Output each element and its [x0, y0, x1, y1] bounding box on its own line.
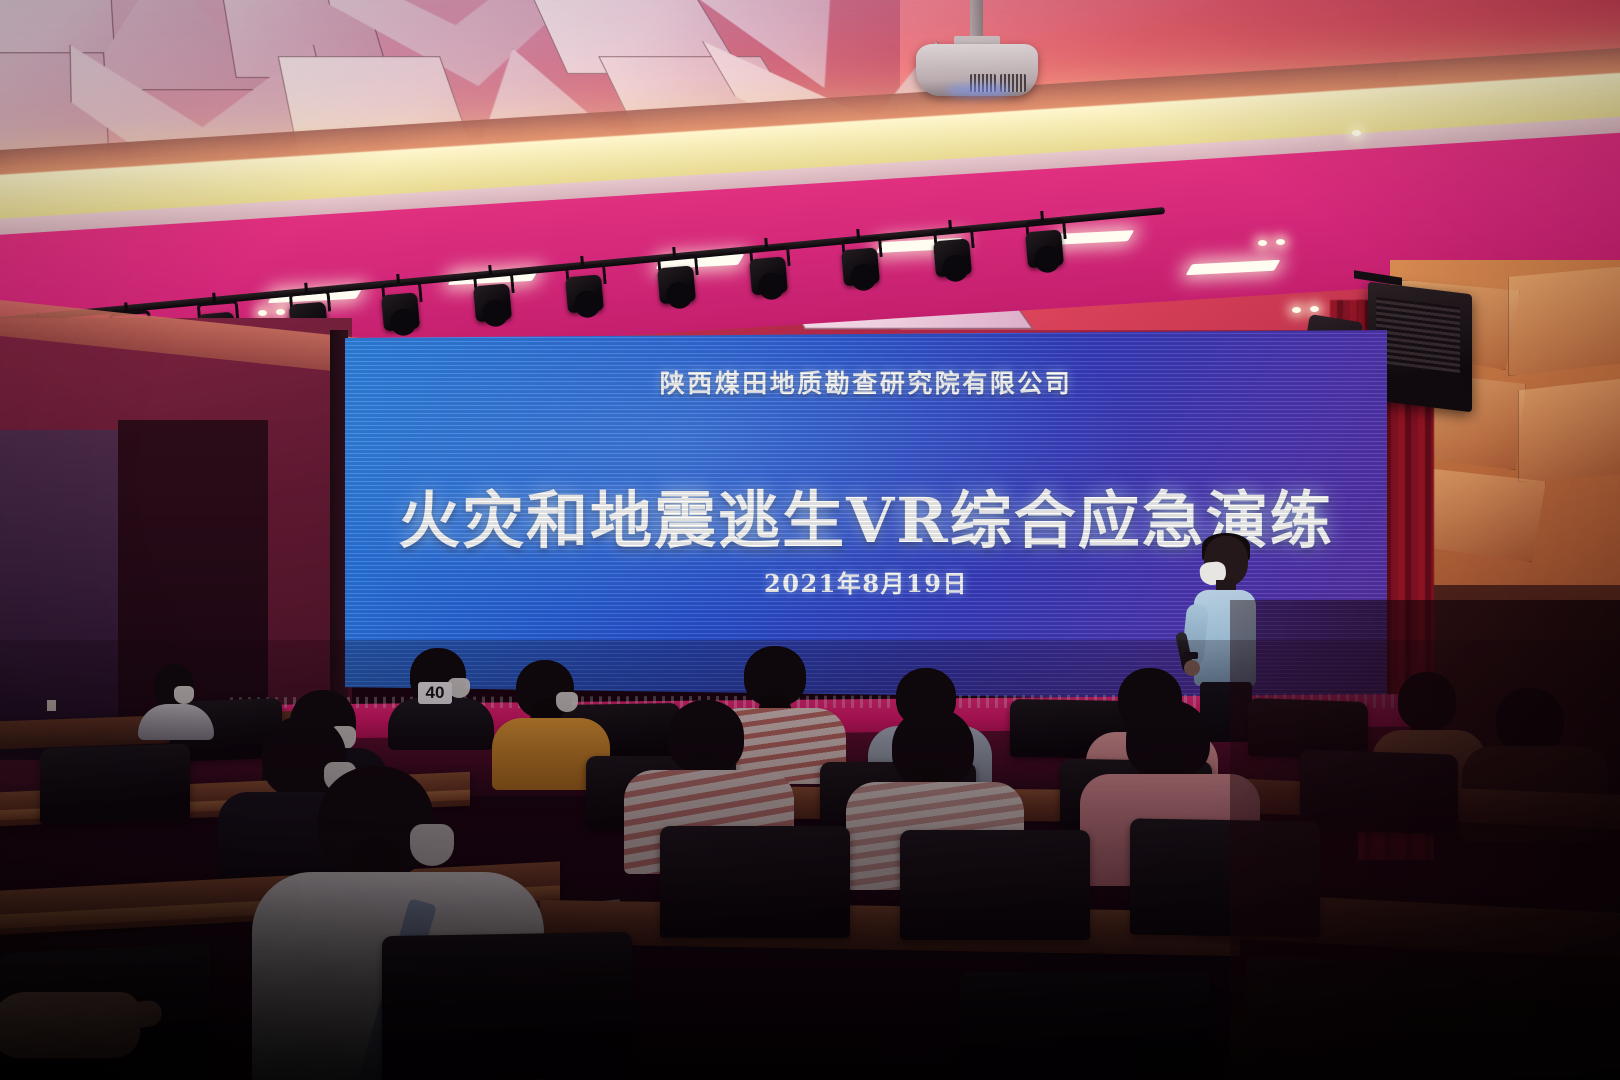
- foreground-hand: [0, 978, 220, 1080]
- chair: [40, 743, 190, 824]
- stage-light: [746, 245, 790, 296]
- face-mask: [410, 824, 454, 866]
- downlight: [1310, 306, 1319, 312]
- downlight: [276, 309, 285, 315]
- projector-mount-rod: [970, 0, 983, 38]
- stage-light: [378, 281, 422, 332]
- stage-light: [470, 272, 514, 323]
- chair: [900, 830, 1090, 940]
- ceiling-projector: [916, 28, 1038, 100]
- stage-light: [930, 227, 974, 278]
- shoulders: [138, 704, 214, 740]
- presenter-watch: [1184, 652, 1198, 659]
- downlight: [1352, 130, 1361, 136]
- light-body: [933, 238, 972, 277]
- light-body: [473, 283, 512, 322]
- chair: [1246, 956, 1486, 1080]
- head: [1496, 688, 1564, 754]
- stage-light: [838, 236, 882, 287]
- light-body: [841, 247, 880, 286]
- light-body: [749, 256, 788, 295]
- downlight: [258, 310, 267, 316]
- downlight: [1292, 307, 1301, 313]
- wall-marker: [47, 700, 56, 711]
- wall-facet: [1518, 378, 1620, 482]
- light-body: [1025, 229, 1064, 268]
- stage-light: [562, 263, 606, 314]
- stage-light: [1022, 218, 1066, 269]
- audience-member: [500, 660, 596, 780]
- projector-lens-glow: [946, 84, 1012, 97]
- chair: [1300, 749, 1458, 835]
- chair: [660, 826, 850, 938]
- shoulders: [388, 698, 494, 750]
- chair: [1130, 818, 1320, 937]
- chair: [960, 972, 1210, 1080]
- face-mask: [556, 692, 578, 712]
- wall-facet: [1508, 266, 1620, 376]
- audience-member: 40: [400, 648, 480, 734]
- downlight: [1258, 240, 1267, 246]
- screen-company-name: 陕西煤田地质勘查研究院有限公司: [345, 364, 1387, 400]
- chair: [382, 932, 632, 1080]
- left-wall-panel: [0, 430, 122, 760]
- audience-member: [140, 664, 210, 734]
- light-body: [381, 292, 420, 331]
- stage-light: [654, 254, 698, 305]
- speaker-grill: [1376, 297, 1460, 373]
- cap-number-40: 40: [418, 682, 452, 704]
- auditorium-photo: 陕西煤田地质勘查研究院有限公司 火灾和地震逃生VR综合应急演练 2021年8月1…: [0, 0, 1620, 1080]
- light-body: [657, 265, 696, 304]
- light-body: [565, 274, 604, 313]
- downlight: [1276, 239, 1285, 245]
- face-mask: [174, 686, 194, 704]
